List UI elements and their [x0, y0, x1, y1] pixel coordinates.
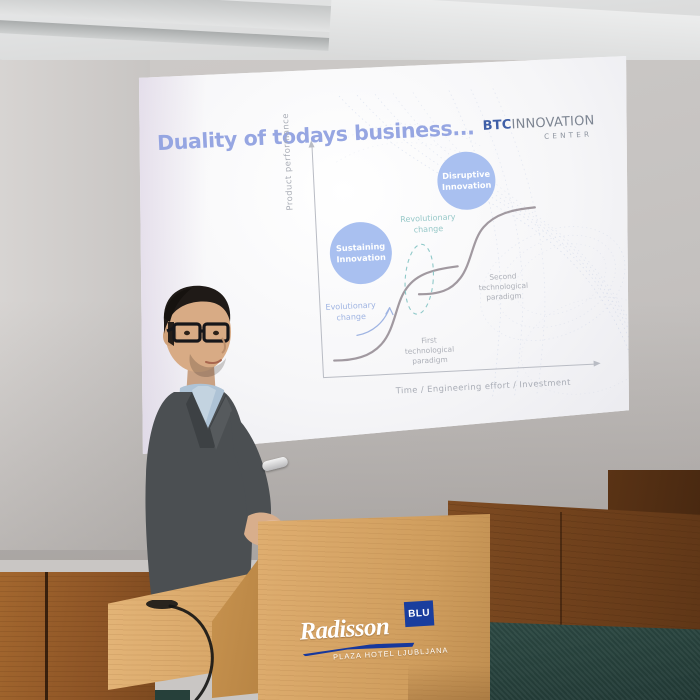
- annotation-evolutionary-change: Evolutionary change: [325, 300, 376, 324]
- revolutionary-change-ellipse: [403, 243, 436, 315]
- annotation-revolutionary-change: Revolutionary change: [400, 212, 456, 236]
- bubble-disruptive-label: Disruptive Innovation: [441, 169, 491, 193]
- radisson-blu-logo: Radisson BLU PLAZA HOTEL LJUBLJANA: [298, 603, 451, 672]
- bubble-sustaining-label: Sustaining Innovation: [336, 241, 386, 265]
- radisson-wordmark: Radisson: [299, 613, 390, 646]
- annotation-first-technological-paradigm: First technological paradigm: [404, 335, 455, 367]
- wood-panel-seam-left: [45, 572, 48, 700]
- annotation-second-technological-paradigm: Second technological paradigm: [478, 271, 529, 303]
- radisson-blu-badge: BLU: [404, 600, 434, 627]
- floor-cable: [118, 600, 258, 700]
- presentation-photo-scene: Duality of todays business... BTCINNOVAT…: [0, 0, 700, 700]
- presenter-eye-right: [213, 331, 219, 335]
- presenter-eye-left: [184, 331, 190, 335]
